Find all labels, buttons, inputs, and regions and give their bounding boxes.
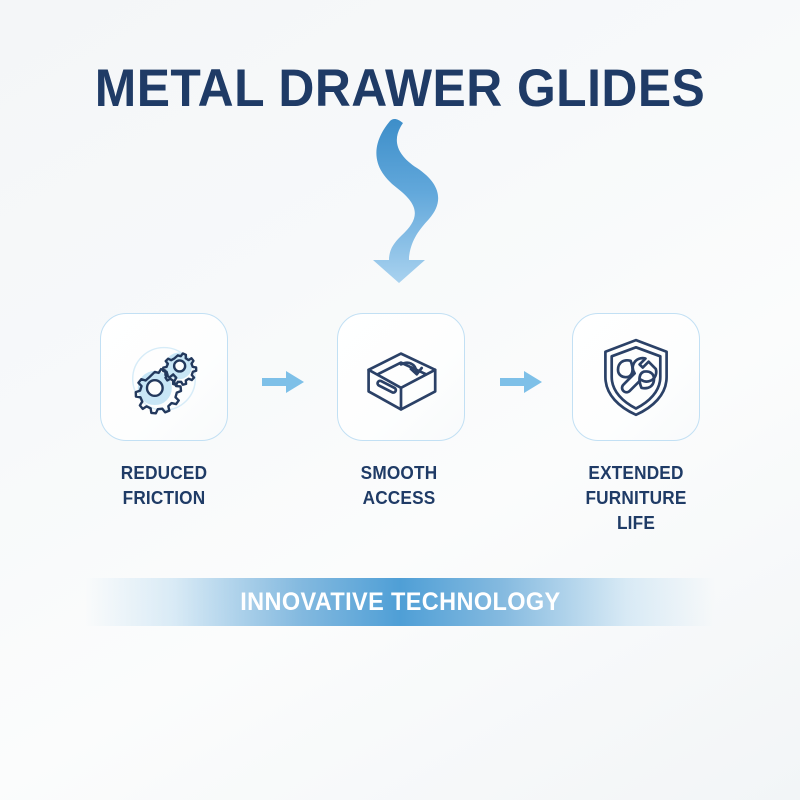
- connector-arrow-2: [500, 369, 542, 395]
- open-drawer-icon: [356, 332, 446, 422]
- page-title: METAL DRAWER GLIDES: [24, 58, 776, 119]
- step-label-smooth-access: SMOOTH ACCESS: [311, 460, 488, 510]
- banner-text: INNOVATIVE TECHNOLOGY: [240, 588, 560, 617]
- arrow-right-icon: [500, 369, 542, 395]
- step-card-extended-furniture-life[interactable]: [572, 313, 700, 441]
- label-line: REDUCED: [76, 460, 253, 485]
- infographic-canvas: METAL DRAWER GLIDES: [0, 0, 800, 800]
- shield-wrench-leaf-icon: [591, 332, 681, 422]
- step-card-reduced-friction[interactable]: [100, 313, 228, 441]
- connector-arrow-1: [262, 369, 304, 395]
- steps-row: [0, 313, 800, 445]
- innovative-technology-banner: INNOVATIVE TECHNOLOGY: [85, 578, 715, 626]
- label-line: EXTENDED: [548, 460, 725, 485]
- label-line: FURNITURE: [548, 485, 725, 510]
- curved-down-arrow-icon: [345, 118, 475, 283]
- label-line: ACCESS: [311, 485, 488, 510]
- gears-icon: [118, 331, 210, 423]
- step-labels-row: REDUCED FRICTION SMOOTH ACCESS EXTENDED …: [0, 460, 800, 560]
- step-label-extended-furniture-life: EXTENDED FURNITURE LIFE: [548, 460, 725, 535]
- label-line: FRICTION: [76, 485, 253, 510]
- label-line: SMOOTH: [311, 460, 488, 485]
- step-label-reduced-friction: REDUCED FRICTION: [76, 460, 253, 510]
- arrow-right-icon: [262, 369, 304, 395]
- label-line: LIFE: [548, 510, 725, 535]
- step-card-smooth-access[interactable]: [337, 313, 465, 441]
